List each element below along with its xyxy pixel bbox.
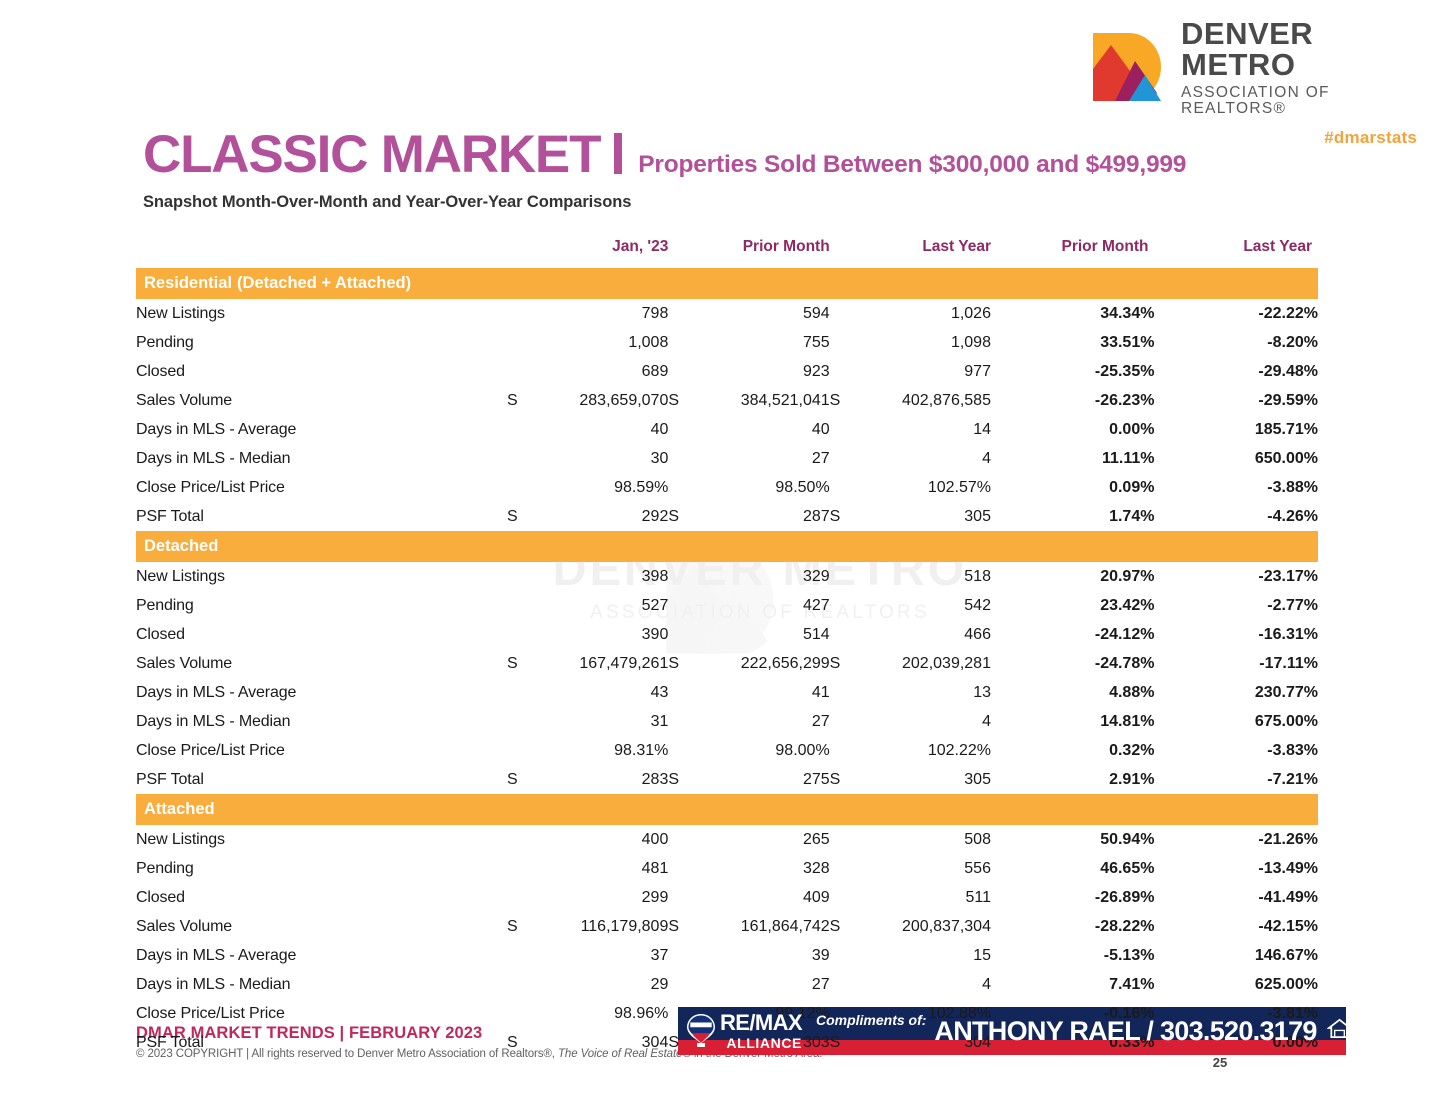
value-prior-month: 755: [692, 328, 830, 357]
value-prior-month: 41: [692, 678, 830, 707]
value-current: 527: [531, 591, 669, 620]
value-current: 390: [531, 620, 669, 649]
table-row: Days in MLS - Average373915-5.13%146.67%: [136, 941, 1318, 970]
currency-symbol-current: [507, 883, 531, 912]
currency-symbol-lastyear: [830, 591, 854, 620]
page-number: 25: [1180, 1055, 1260, 1070]
value-last-year: 1,098: [853, 328, 991, 357]
value-last-year: 4: [853, 970, 991, 999]
currency-symbol-current: [507, 941, 531, 970]
value-current: 481: [531, 854, 669, 883]
pct-change-last-year: -3.83%: [1154, 736, 1318, 765]
value-prior-month: 923: [692, 357, 830, 386]
section-title: Detached: [136, 537, 218, 555]
row-label: New Listings: [136, 825, 507, 854]
agent-name-phone: ANTHONY RAEL / 303.520.3179: [934, 1016, 1316, 1047]
row-label: Days in MLS - Average: [136, 678, 507, 707]
currency-symbol-lastyear: [830, 678, 854, 707]
value-prior-month: 594: [692, 299, 830, 328]
currency-symbol-prior: [668, 444, 692, 473]
currency-symbol-current: [507, 620, 531, 649]
table-row: Days in MLS - Average4040140.00%185.71%: [136, 415, 1318, 444]
value-current: 283: [531, 765, 669, 794]
currency-symbol-lastyear: [830, 736, 854, 765]
currency-symbol-lastyear: [830, 328, 854, 357]
pct-change-prior-month: 23.42%: [991, 591, 1154, 620]
pct-change-last-year: -41.49%: [1154, 883, 1318, 912]
pct-change-prior-month: 0.32%: [991, 736, 1154, 765]
table-row: PSF TotalS292S287S3051.74%-4.26%: [136, 502, 1318, 531]
value-current: 31: [531, 707, 669, 736]
currency-symbol-lastyear: S: [830, 386, 854, 415]
brand-header: DENVER METRO ASSOCIATION OF REALTORS® #d…: [1089, 18, 1419, 123]
table-row: Close Price/List Price98.59%98.50%102.57…: [136, 473, 1318, 502]
currency-symbol-lastyear: S: [830, 1028, 854, 1057]
currency-symbol-current: [507, 357, 531, 386]
row-label: Closed: [136, 620, 507, 649]
dmar-mountain-logo-icon: [1089, 31, 1165, 103]
row-label: Days in MLS - Average: [136, 941, 507, 970]
pct-change-last-year: -29.48%: [1154, 357, 1318, 386]
currency-symbol-current: S: [507, 1028, 531, 1057]
value-current: 689: [531, 357, 669, 386]
pct-change-prior-month: 11.11%: [991, 444, 1154, 473]
currency-symbol-lastyear: S: [830, 649, 854, 678]
value-last-year: 4: [853, 444, 991, 473]
pct-change-last-year: 146.67%: [1154, 941, 1318, 970]
currency-symbol-current: [507, 444, 531, 473]
pct-change-last-year: -22.22%: [1154, 299, 1318, 328]
currency-symbol-prior: [668, 854, 692, 883]
row-label: Closed: [136, 357, 507, 386]
section-title: Attached: [136, 800, 215, 818]
section-title: Residential: [136, 274, 232, 292]
value-current: 283,659,070: [531, 386, 669, 415]
row-label: New Listings: [136, 299, 507, 328]
pct-change-last-year: -16.31%: [1154, 620, 1318, 649]
section-header-row: Attached: [136, 794, 1318, 825]
row-label: New Listings: [136, 562, 507, 591]
value-prior-month: 27: [692, 444, 830, 473]
currency-symbol-prior: S: [668, 502, 692, 531]
value-last-year: 511: [853, 883, 991, 912]
value-prior-month: 384,521,041: [692, 386, 830, 415]
row-label: Days in MLS - Median: [136, 444, 507, 473]
currency-symbol-lastyear: [830, 357, 854, 386]
row-label: Days in MLS - Median: [136, 707, 507, 736]
section-header-cell: Residential(Detached + Attached): [136, 268, 1318, 299]
currency-symbol-lastyear: [830, 970, 854, 999]
pct-change-prior-month: 46.65%: [991, 854, 1154, 883]
pct-change-last-year: 230.77%: [1154, 678, 1318, 707]
col-header-pct-last-year: Last Year: [1154, 238, 1318, 268]
currency-symbol-current: [507, 707, 531, 736]
value-current: 29: [531, 970, 669, 999]
currency-symbol-current: [507, 970, 531, 999]
value-prior-month: 27: [692, 707, 830, 736]
row-label: Pending: [136, 854, 507, 883]
snapshot-description: Snapshot Month-Over-Month and Year-Over-…: [143, 193, 1323, 212]
value-last-year: 14: [853, 415, 991, 444]
value-last-year: 556: [853, 854, 991, 883]
table-row: Days in MLS - Average4341134.88%230.77%: [136, 678, 1318, 707]
pct-change-last-year: -17.11%: [1154, 649, 1318, 678]
currency-symbol-lastyear: [830, 707, 854, 736]
value-current: 292: [531, 502, 669, 531]
market-stats-table: Jan, '23 Prior Month Last Year Prior Mon…: [136, 238, 1318, 1057]
currency-symbol-prior: [668, 591, 692, 620]
page-subtitle: Properties Sold Between $300,000 and $49…: [638, 151, 1186, 179]
row-label: Sales Volume: [136, 386, 507, 415]
currency-symbol-current: S: [507, 912, 531, 941]
value-current: 37: [531, 941, 669, 970]
table-row: Pending48132855646.65%-13.49%: [136, 854, 1318, 883]
pct-change-last-year: -42.15%: [1154, 912, 1318, 941]
logo-title: DENVER METRO: [1181, 18, 1419, 80]
compliments-label: Compliments of:: [816, 1012, 926, 1028]
currency-symbol-prior: S: [668, 386, 692, 415]
col-header-lastyear-dollar: [830, 238, 854, 268]
section-header-row: Detached: [136, 531, 1318, 562]
currency-symbol-lastyear: S: [830, 912, 854, 941]
currency-symbol-current: [507, 999, 531, 1028]
row-label: PSF Total: [136, 502, 507, 531]
table-row: Days in MLS - Median3127414.81%675.00%: [136, 707, 1318, 736]
currency-symbol-prior: [668, 736, 692, 765]
section-header-row: Residential(Detached + Attached): [136, 268, 1318, 299]
pct-change-prior-month: 0.00%: [991, 415, 1154, 444]
dmar-logo: DENVER METRO ASSOCIATION OF REALTORS®: [1089, 18, 1419, 116]
currency-symbol-lastyear: S: [830, 765, 854, 794]
currency-symbol-lastyear: [830, 299, 854, 328]
row-label: Close Price/List Price: [136, 999, 507, 1028]
currency-symbol-prior: [668, 562, 692, 591]
currency-symbol-current: [507, 562, 531, 591]
row-label: Days in MLS - Median: [136, 970, 507, 999]
pct-change-last-year: -13.49%: [1154, 854, 1318, 883]
value-last-year: 508: [853, 825, 991, 854]
table-row: PSF TotalS283S275S3052.91%-7.21%: [136, 765, 1318, 794]
currency-symbol-current: [507, 473, 531, 502]
currency-symbol-prior: [668, 707, 692, 736]
value-current: 98.59%: [531, 473, 669, 502]
pct-change-prior-month: -25.35%: [991, 357, 1154, 386]
pct-change-prior-month: -26.23%: [991, 386, 1154, 415]
table-row: Sales VolumeS167,479,261S222,656,299S202…: [136, 649, 1318, 678]
value-current: 30: [531, 444, 669, 473]
col-header-current: Jan, '23: [531, 238, 669, 268]
currency-symbol-lastyear: S: [830, 502, 854, 531]
value-last-year: 1,026: [853, 299, 991, 328]
dmar-wordmark: DENVER METRO ASSOCIATION OF REALTORS®: [1181, 18, 1419, 116]
logo-subtitle: ASSOCIATION OF REALTORS®: [1181, 85, 1419, 116]
page-title: CLASSIC MARKET: [143, 128, 600, 181]
pct-change-last-year: -29.59%: [1154, 386, 1318, 415]
pct-change-last-year: 675.00%: [1154, 707, 1318, 736]
row-label: Sales Volume: [136, 649, 507, 678]
title-line: CLASSIC MARKET Properties Sold Between $…: [143, 128, 1323, 181]
currency-symbol-lastyear: [830, 883, 854, 912]
pct-change-last-year: -2.77%: [1154, 591, 1318, 620]
currency-symbol-prior: [668, 883, 692, 912]
remax-wordmark: RE/MAX ALLIANCE: [720, 1012, 802, 1050]
row-label: PSF Total: [136, 765, 507, 794]
currency-symbol-current: [507, 591, 531, 620]
pct-change-prior-month: 0.09%: [991, 473, 1154, 502]
row-label: PSF Total: [136, 1028, 507, 1057]
row-label: Close Price/List Price: [136, 473, 507, 502]
title-block: CLASSIC MARKET Properties Sold Between $…: [143, 128, 1323, 212]
table-body: Residential(Detached + Attached)New List…: [136, 268, 1318, 1057]
value-current: 304: [531, 1028, 669, 1057]
currency-symbol-prior: [668, 415, 692, 444]
value-prior-month: 329: [692, 562, 830, 591]
table-row: New Listings39832951820.97%-23.17%: [136, 562, 1318, 591]
value-current: 40: [531, 415, 669, 444]
value-last-year: 402,876,585: [853, 386, 991, 415]
currency-symbol-prior: S: [668, 912, 692, 941]
section-note: (Detached + Attached): [232, 274, 411, 292]
table-row: Closed390514466-24.12%-16.31%: [136, 620, 1318, 649]
currency-symbol-lastyear: [830, 562, 854, 591]
value-prior-month: 514: [692, 620, 830, 649]
table-row: Days in MLS - Median292747.41%625.00%: [136, 970, 1318, 999]
currency-symbol-prior: S: [668, 765, 692, 794]
row-label: Closed: [136, 883, 507, 912]
pct-change-last-year: 625.00%: [1154, 970, 1318, 999]
value-current: 43: [531, 678, 669, 707]
pct-change-prior-month: -24.12%: [991, 620, 1154, 649]
pct-change-last-year: 650.00%: [1154, 444, 1318, 473]
table-row: Closed689923977-25.35%-29.48%: [136, 357, 1318, 386]
pct-change-prior-month: -5.13%: [991, 941, 1154, 970]
currency-symbol-prior: [668, 678, 692, 707]
col-header-last-year: Last Year: [853, 238, 991, 268]
value-prior-month: 39: [692, 941, 830, 970]
pct-change-last-year: -23.17%: [1154, 562, 1318, 591]
value-current: 798: [531, 299, 669, 328]
currency-symbol-lastyear: [830, 473, 854, 502]
currency-symbol-current: [507, 736, 531, 765]
currency-symbol-lastyear: [830, 854, 854, 883]
row-label: Sales Volume: [136, 912, 507, 941]
pct-change-prior-month: 2.91%: [991, 765, 1154, 794]
table-row: New Listings7985941,02634.34%-22.22%: [136, 299, 1318, 328]
currency-symbol-prior: [668, 328, 692, 357]
table-header: Jan, '23 Prior Month Last Year Prior Mon…: [136, 238, 1318, 268]
value-prior-month: 409: [692, 883, 830, 912]
pct-change-last-year: 185.71%: [1154, 415, 1318, 444]
value-last-year: 542: [853, 591, 991, 620]
table-row: Sales VolumeS283,659,070S384,521,041S402…: [136, 386, 1318, 415]
pct-change-prior-month: 7.41%: [991, 970, 1154, 999]
col-header-prior-month: Prior Month: [692, 238, 830, 268]
pct-change-prior-month: -28.22%: [991, 912, 1154, 941]
value-prior-month: 27: [692, 970, 830, 999]
pct-change-prior-month: -26.89%: [991, 883, 1154, 912]
equal-housing-opportunity-icon: [1327, 1016, 1346, 1046]
currency-symbol-prior: S: [668, 649, 692, 678]
currency-symbol-current: S: [507, 386, 531, 415]
pct-change-last-year: -8.20%: [1154, 328, 1318, 357]
value-last-year: 466: [853, 620, 991, 649]
value-last-year: 102.57%: [853, 473, 991, 502]
currency-symbol-current: S: [507, 502, 531, 531]
col-header-current-dollar: [507, 238, 531, 268]
value-last-year: 4: [853, 707, 991, 736]
value-last-year: 13: [853, 678, 991, 707]
table-row: Close Price/List Price98.31%98.00%102.22…: [136, 736, 1318, 765]
value-prior-month: 427: [692, 591, 830, 620]
table-row: Pending52742754223.42%-2.77%: [136, 591, 1318, 620]
remax-balloon-icon: [686, 1013, 716, 1049]
value-prior-month: 287: [692, 502, 830, 531]
currency-symbol-lastyear: [830, 825, 854, 854]
col-header-prior-dollar: [668, 238, 692, 268]
pct-change-last-year: -21.26%: [1154, 825, 1318, 854]
table-header-row: Jan, '23 Prior Month Last Year Prior Mon…: [136, 238, 1318, 268]
currency-symbol-prior: [668, 299, 692, 328]
currency-symbol-prior: [668, 941, 692, 970]
section-header-cell: Attached: [136, 794, 1318, 825]
currency-symbol-prior: [668, 473, 692, 502]
pct-change-prior-month: 34.34%: [991, 299, 1154, 328]
pct-change-last-year: -3.88%: [1154, 473, 1318, 502]
pct-change-prior-month: 33.51%: [991, 328, 1154, 357]
value-current: 98.96%: [531, 999, 669, 1028]
value-last-year: 202,039,281: [853, 649, 991, 678]
table-row: Sales VolumeS116,179,809S161,864,742S200…: [136, 912, 1318, 941]
value-current: 400: [531, 825, 669, 854]
value-prior-month: 222,656,299: [692, 649, 830, 678]
section-header-cell: Detached: [136, 531, 1318, 562]
row-label: Close Price/List Price: [136, 736, 507, 765]
value-current: 116,179,809: [531, 912, 669, 941]
currency-symbol-current: [507, 415, 531, 444]
currency-symbol-lastyear: [830, 941, 854, 970]
footer-badges: R: [1327, 1007, 1346, 1055]
currency-symbol-current: [507, 328, 531, 357]
value-current: 1,008: [531, 328, 669, 357]
currency-symbol-current: S: [507, 649, 531, 678]
currency-symbol-current: S: [507, 765, 531, 794]
currency-symbol-lastyear: [830, 415, 854, 444]
value-prior-month: 98.00%: [692, 736, 830, 765]
col-header-label: [136, 238, 507, 268]
pct-change-prior-month: 50.94%: [991, 825, 1154, 854]
table-row: New Listings40026550850.94%-21.26%: [136, 825, 1318, 854]
remax-alliance-label: ALLIANCE: [720, 1036, 802, 1050]
value-current: 98.31%: [531, 736, 669, 765]
pct-change-last-year: -7.21%: [1154, 765, 1318, 794]
currency-symbol-prior: [668, 357, 692, 386]
row-label: Pending: [136, 591, 507, 620]
table-row: Pending1,0087551,09833.51%-8.20%: [136, 328, 1318, 357]
currency-symbol-current: [507, 854, 531, 883]
currency-symbol-current: [507, 678, 531, 707]
value-prior-month: 98.50%: [692, 473, 830, 502]
col-header-pct-prior-month: Prior Month: [991, 238, 1154, 268]
remax-logo: RE/MAX ALLIANCE: [678, 1007, 802, 1055]
value-last-year: 200,837,304: [853, 912, 991, 941]
value-last-year: 102.22%: [853, 736, 991, 765]
value-current: 398: [531, 562, 669, 591]
currency-symbol-lastyear: [830, 620, 854, 649]
row-label: Days in MLS - Average: [136, 415, 507, 444]
currency-symbol-current: [507, 825, 531, 854]
row-label: Pending: [136, 328, 507, 357]
value-current: 299: [531, 883, 669, 912]
currency-symbol-lastyear: [830, 444, 854, 473]
currency-symbol-prior: [668, 620, 692, 649]
value-last-year: 305: [853, 502, 991, 531]
pct-change-prior-month: 20.97%: [991, 562, 1154, 591]
value-prior-month: 328: [692, 854, 830, 883]
value-prior-month: 40: [692, 415, 830, 444]
table-row: Closed299409511-26.89%-41.49%: [136, 883, 1318, 912]
pct-change-prior-month: 1.74%: [991, 502, 1154, 531]
value-prior-month: 275: [692, 765, 830, 794]
value-last-year: 977: [853, 357, 991, 386]
pct-change-prior-month: 14.81%: [991, 707, 1154, 736]
pct-change-prior-month: -24.78%: [991, 649, 1154, 678]
value-last-year: 15: [853, 941, 991, 970]
value-prior-month: 265: [692, 825, 830, 854]
pct-change-last-year: -4.26%: [1154, 502, 1318, 531]
currency-symbol-prior: [668, 825, 692, 854]
title-divider: [614, 133, 622, 174]
value-current: 167,479,261: [531, 649, 669, 678]
currency-symbol-current: [507, 299, 531, 328]
value-last-year: 305: [853, 765, 991, 794]
table-row: Days in MLS - Median3027411.11%650.00%: [136, 444, 1318, 473]
value-prior-month: 161,864,742: [692, 912, 830, 941]
currency-symbol-prior: [668, 970, 692, 999]
pct-change-prior-month: 4.88%: [991, 678, 1154, 707]
value-last-year: 518: [853, 562, 991, 591]
remax-brand-label: RE/MAX: [720, 1012, 802, 1034]
